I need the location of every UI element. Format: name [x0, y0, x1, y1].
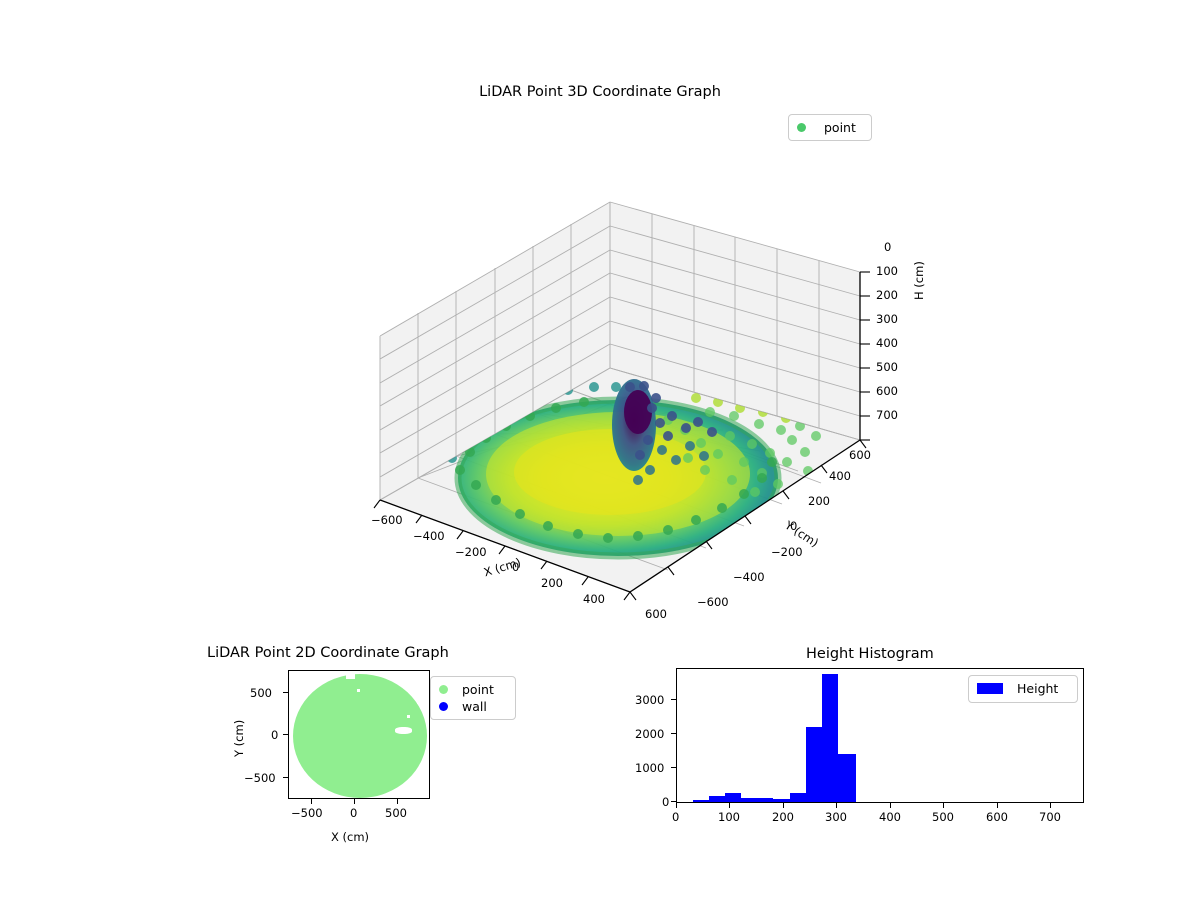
plot2d-ytick-1: 0 — [271, 728, 278, 742]
plot3d-ztick-2: 200 — [876, 288, 898, 302]
point-disk — [293, 674, 427, 798]
histogram-title: Height Histogram — [806, 646, 934, 662]
legend-label-point: point — [824, 120, 856, 135]
plot3d-xtick-6: 600 — [645, 607, 667, 621]
point-marker-icon — [439, 685, 448, 694]
disk-notch-upper-right — [417, 695, 429, 704]
plot2d-ytick-2: −500 — [244, 771, 276, 785]
histogram-ytick-3: 3000 — [635, 693, 664, 707]
disk-notch-right — [395, 727, 412, 734]
histogram-xtickmark-3 — [836, 803, 837, 808]
plot3d-ztick-5: 500 — [876, 360, 898, 374]
histogram-xtickmark-0 — [676, 803, 677, 808]
plot2d-xtick-1: 0 — [350, 806, 357, 820]
plot3d-ytick-2: −200 — [771, 545, 803, 559]
plot3d-ytick-6: 600 — [849, 448, 871, 462]
legend-item-wall: wall — [439, 698, 507, 715]
plot3d-xtick-5: 400 — [583, 592, 605, 606]
legend-label-point: point — [462, 682, 494, 697]
legend-label-wall: wall — [462, 699, 487, 714]
plot2d-xtickmark-1 — [354, 799, 355, 804]
histogram-xtickmark-7 — [1050, 803, 1051, 808]
plot2d-ytick-0: 500 — [250, 686, 272, 700]
histogram-bar — [773, 799, 790, 802]
histogram-xtickmark-1 — [729, 803, 730, 808]
plot2d-xtickmark-0 — [311, 799, 312, 804]
plot3d-xtick-2: −200 — [455, 545, 487, 559]
plot3d-ytick-4: 200 — [808, 494, 830, 508]
plot3d-ztick-6: 600 — [876, 384, 898, 398]
plot3d-ztick-3: 300 — [876, 312, 898, 326]
histogram-bar — [693, 800, 709, 802]
plot2d-xaxis-label: X (cm) — [331, 830, 369, 844]
histogram-ytickmark-0 — [671, 801, 676, 802]
histogram-bar — [757, 798, 773, 802]
histogram-ytickmark-3 — [671, 699, 676, 700]
point-marker-icon — [797, 123, 806, 132]
histogram-xtickmark-4 — [890, 803, 891, 808]
plot3d-ztick-0: 0 — [884, 240, 891, 254]
plot3d-canvas — [300, 140, 940, 620]
plot3d-ztick-4: 400 — [876, 336, 898, 350]
histogram-ytick-1: 1000 — [635, 761, 664, 775]
histogram-ytick-2: 2000 — [635, 727, 664, 741]
plot3d-ytick-0: −600 — [697, 595, 729, 609]
plot3d-axes[interactable] — [300, 140, 940, 620]
histogram-bar — [725, 793, 741, 802]
legend-label-height: Height — [1017, 681, 1058, 696]
histogram-ytickmark-1 — [671, 767, 676, 768]
histogram-xtick-2: 200 — [772, 810, 794, 824]
histogram-bar — [806, 727, 822, 802]
histogram-ytick-0: 0 — [662, 795, 669, 809]
histogram-bar — [822, 674, 838, 802]
plot3d-xtick-1: −400 — [413, 529, 445, 543]
histogram-xtick-5: 500 — [932, 810, 954, 824]
histogram-xtick-4: 400 — [879, 810, 901, 824]
figure-canvas: LiDAR Point 3D Coordinate Graph point — [0, 0, 1200, 900]
plot3d-ytick-5: 400 — [829, 469, 851, 483]
histogram-xtick-0: 0 — [672, 810, 679, 824]
histogram-xtickmark-5 — [943, 803, 944, 808]
legend-item-point: point — [797, 119, 863, 136]
plot3d-legend: point — [788, 114, 872, 141]
histogram-xtickmark-6 — [997, 803, 998, 808]
histogram-bar — [741, 798, 757, 802]
plot2d-title: LiDAR Point 2D Coordinate Graph — [207, 645, 449, 661]
legend-item-point: point — [439, 681, 507, 698]
plot3d-ztick-1: 100 — [876, 264, 898, 278]
height-swatch-icon — [977, 683, 1003, 694]
histogram-xtickmark-2 — [783, 803, 784, 808]
histogram-bar — [790, 793, 806, 802]
disk-notch-top — [346, 671, 355, 679]
legend-item-height: Height — [977, 680, 1069, 697]
plot3d-xtick-0: −600 — [371, 513, 403, 527]
histogram-ytickmark-2 — [671, 733, 676, 734]
plot2d-ytickmark-2 — [283, 777, 288, 778]
plot2d-ytickmark-0 — [283, 692, 288, 693]
plot3d-ytick-1: −400 — [733, 570, 765, 584]
plot2d-xtick-0: −500 — [291, 806, 323, 820]
plot3d-xtick-4: 200 — [541, 576, 563, 590]
histogram-xtick-6: 600 — [986, 810, 1008, 824]
plot2d-xtickmark-2 — [397, 799, 398, 804]
wall-marker-icon — [439, 702, 448, 711]
histogram-legend: Height — [968, 675, 1078, 703]
disk-speck-b — [407, 715, 410, 718]
disk-speck-a — [357, 689, 360, 692]
plot2d-xtick-2: 500 — [385, 806, 407, 820]
plot2d-ytickmark-1 — [283, 734, 288, 735]
plot3d-zaxis-label: H (cm) — [912, 261, 926, 300]
histogram-bar — [838, 754, 856, 802]
histogram-xtick-1: 100 — [718, 810, 740, 824]
histogram-xtick-7: 700 — [1039, 810, 1061, 824]
histogram-xtick-3: 300 — [825, 810, 847, 824]
plot2d-yaxis-label: Y (cm) — [232, 720, 246, 757]
histogram-bar — [709, 796, 725, 802]
plot3d-title: LiDAR Point 3D Coordinate Graph — [0, 84, 1200, 100]
plot2d-axes[interactable] — [288, 670, 430, 799]
plot2d-legend: point wall — [430, 676, 516, 720]
plot3d-ztick-7: 700 — [876, 408, 898, 422]
